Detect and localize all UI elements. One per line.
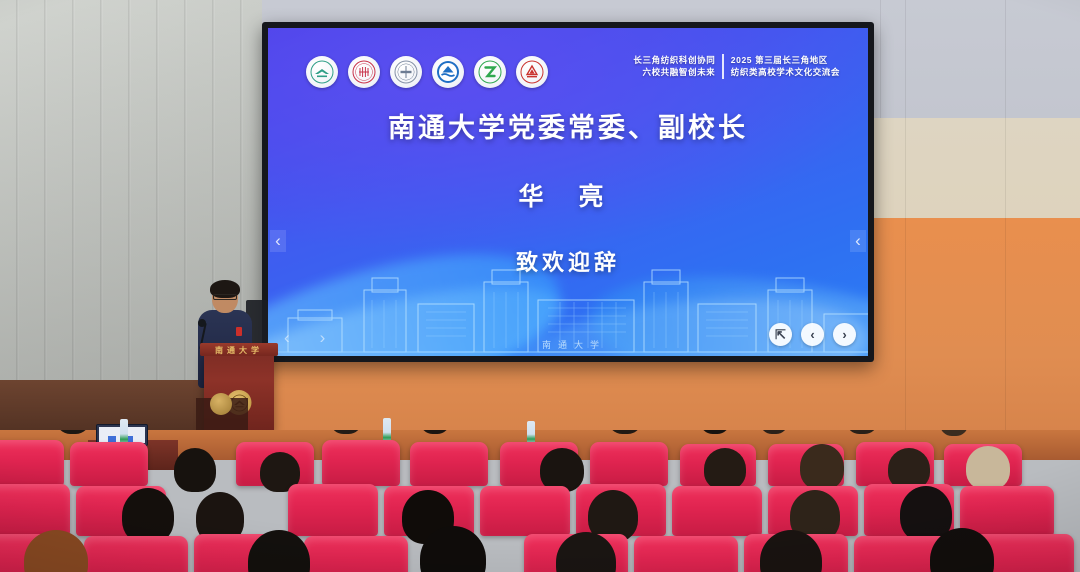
university-logo-3 bbox=[390, 56, 422, 88]
slide-mini-navigation[interactable]: ‹ › bbox=[284, 328, 325, 348]
prev-button[interactable]: ‹ bbox=[801, 323, 824, 346]
theater-seat bbox=[480, 486, 570, 536]
mini-next-arrow[interactable]: › bbox=[320, 328, 326, 348]
audience-seating bbox=[0, 430, 1080, 572]
podium-name-text: 南通大学 bbox=[204, 345, 274, 356]
slide-body: 南通大学党委常委、副校长 华 亮 致欢迎辞 bbox=[268, 106, 868, 277]
theater-seat bbox=[634, 536, 738, 572]
theater-seat bbox=[288, 484, 378, 536]
theater-seat bbox=[672, 486, 762, 536]
header-divider bbox=[722, 54, 724, 79]
slide-edge-arrow-right[interactable]: ‹ bbox=[850, 230, 866, 252]
presentation-slide[interactable]: 长三角纺织科创协同 六校共融智创未来 2025 第三届长三角地区 纺织类高校学术… bbox=[268, 28, 868, 356]
university-logo-4 bbox=[432, 56, 464, 88]
header-right-line2: 纺织类高校学术文化交流会 bbox=[731, 66, 840, 78]
university-logo-row bbox=[306, 56, 548, 88]
university-logo-1 bbox=[306, 56, 338, 88]
eyeglasses bbox=[213, 294, 237, 300]
theater-seat bbox=[70, 442, 148, 486]
theater-seat bbox=[410, 442, 488, 486]
slide-line-title: 南通大学党委常委、副校长 bbox=[268, 106, 868, 145]
microphone-icon bbox=[198, 319, 206, 327]
lapel-badge bbox=[236, 327, 242, 336]
header-left-line2: 六校共融智创未来 bbox=[633, 66, 715, 78]
audience-head bbox=[704, 448, 746, 490]
theater-seat bbox=[322, 440, 400, 486]
audience-head bbox=[966, 446, 1010, 490]
header-left-line1: 长三角纺织科创协同 bbox=[633, 54, 715, 66]
wall-seam bbox=[1005, 0, 1006, 448]
theater-seat bbox=[960, 486, 1054, 536]
theater-seat bbox=[84, 536, 188, 572]
wall-seam bbox=[905, 0, 906, 448]
slide-line-name: 华 亮 bbox=[268, 177, 868, 213]
audience-head bbox=[174, 448, 216, 492]
projection-screen-frame: 长三角纺织科创协同 六校共融智创未来 2025 第三届长三角地区 纺织类高校学术… bbox=[262, 22, 874, 362]
university-logo-6 bbox=[516, 56, 548, 88]
header-right-line1: 2025 第三届长三角地区 bbox=[731, 54, 840, 66]
slide-control-buttons[interactable]: ⇱ ‹ › bbox=[769, 323, 856, 346]
university-logo-2 bbox=[348, 56, 380, 88]
cityscape-label: 南通大学 bbox=[542, 339, 606, 350]
mini-prev-arrow[interactable]: ‹ bbox=[284, 328, 290, 348]
wall-crest-icon bbox=[210, 393, 232, 415]
wall-seam bbox=[880, 0, 881, 118]
slide-header-text: 长三角纺织科创协同 六校共融智创未来 2025 第三届长三角地区 纺织类高校学术… bbox=[633, 54, 840, 79]
theater-seat bbox=[0, 440, 64, 486]
theater-seat bbox=[304, 536, 408, 572]
university-logo-5 bbox=[474, 56, 506, 88]
next-button[interactable]: › bbox=[833, 323, 856, 346]
theater-seat bbox=[0, 484, 70, 536]
theater-seat bbox=[590, 442, 668, 486]
share-button[interactable]: ⇱ bbox=[769, 323, 792, 346]
slide-edge-arrow-left[interactable]: ‹ bbox=[270, 230, 286, 252]
auditorium-scene: 长三角纺织科创协同 六校共融智创未来 2025 第三届长三角地区 纺织类高校学术… bbox=[0, 0, 1080, 572]
audience-head bbox=[800, 444, 844, 490]
